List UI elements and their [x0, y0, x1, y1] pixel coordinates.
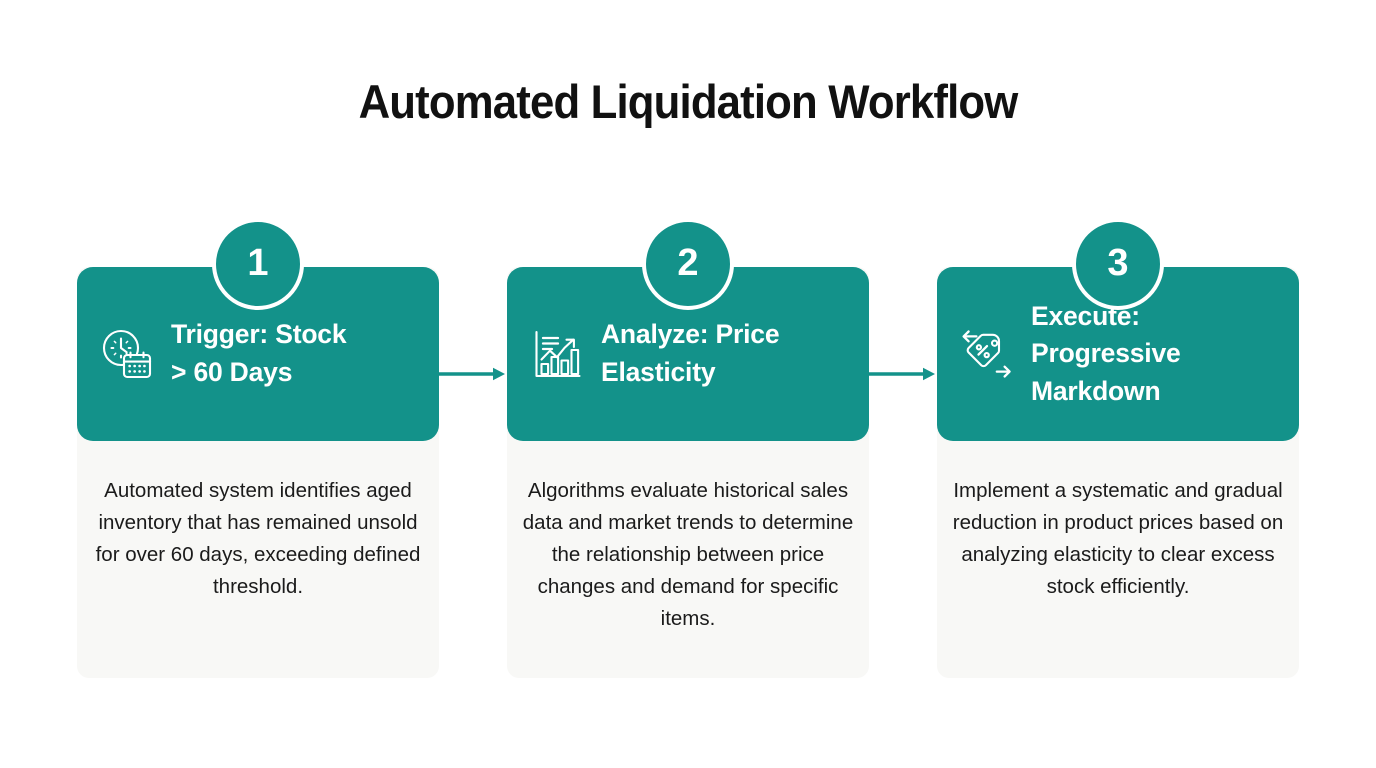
workflow-infographic: Automated Liquidation Workflow: [0, 0, 1376, 768]
price-tag-percent-arrows-icon: [959, 326, 1015, 382]
workflow-step-2[interactable]: Analyze: Price Elasticity 2 Algorithms e…: [507, 218, 869, 680]
page-title: Automated Liquidation Workflow: [48, 74, 1328, 129]
step-number-badge: 2: [642, 218, 734, 310]
step-number-badge: 1: [212, 218, 304, 310]
clock-calendar-icon: [99, 326, 155, 382]
step-description: Implement a systematic and gradual reduc…: [945, 475, 1291, 603]
step-number: 1: [247, 244, 268, 282]
step-description: Algorithms evaluate historical sales dat…: [515, 475, 861, 635]
workflow-steps-row: Trigger: Stock > 60 Days 1 Automated sys…: [77, 218, 1299, 680]
step-number: 3: [1107, 244, 1128, 282]
step-number: 2: [677, 244, 698, 282]
arrow-step2-to-step3: [869, 367, 941, 381]
bar-chart-trend-icon: [529, 326, 585, 382]
arrow-step1-to-step2: [439, 367, 511, 381]
step-number-badge: 3: [1072, 218, 1164, 310]
step-title: Trigger: Stock > 60 Days: [171, 316, 346, 391]
step-title: Execute: Progressive Markdown: [1031, 298, 1181, 411]
workflow-step-3[interactable]: Execute: Progressive Markdown 3 Implemen…: [937, 218, 1299, 680]
workflow-step-1[interactable]: Trigger: Stock > 60 Days 1 Automated sys…: [77, 218, 439, 680]
step-title: Analyze: Price Elasticity: [601, 316, 779, 391]
step-description: Automated system identifies aged invento…: [85, 475, 431, 603]
